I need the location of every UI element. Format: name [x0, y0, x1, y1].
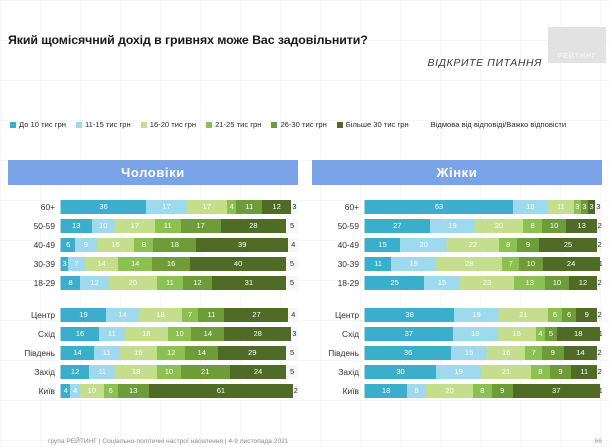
legend-swatch-icon [76, 122, 82, 128]
bar-segment: 11 [548, 200, 574, 214]
bar-segment: 2 [597, 276, 602, 290]
bar-segment: 22 [447, 238, 499, 252]
bar-segment: 11 [99, 327, 125, 341]
bar-segment: 16 [97, 238, 135, 252]
bar-segment: 11 [365, 257, 391, 271]
stacked-bar: 37141416405 [60, 257, 298, 271]
bar-segment: 5 [286, 365, 298, 379]
bar-segment: 6 [562, 308, 576, 322]
bar-segment: 11 [236, 200, 262, 214]
bar-segment: 63 [365, 200, 513, 214]
bar-segment: 14 [106, 308, 139, 322]
bar-segment: 37 [365, 327, 453, 341]
bar-segment: 1 [600, 257, 602, 271]
stacked-bar: 812201112315 [60, 276, 298, 290]
bar-segment: 1 [600, 327, 602, 341]
bar-segment: 3 [574, 200, 581, 214]
bar-segment: 6 [548, 308, 562, 322]
row-category-label: Центр [312, 310, 364, 320]
bar-segment: 20 [109, 276, 157, 290]
bar-segment: 8 [499, 238, 518, 252]
bar-segment: 10 [168, 327, 192, 341]
bar-segment: 17 [115, 219, 155, 233]
panel-men-region-chart: Центр191418711274Схід1611181014283Півден… [8, 307, 298, 398]
legend-swatch-icon [206, 122, 212, 128]
bar-segment: 14 [191, 327, 224, 341]
bar-segment: 14 [118, 257, 152, 271]
bar-segment: 19 [453, 327, 498, 341]
bar-segment: 9 [576, 308, 597, 322]
panel-women-age-chart: 60+631511333350-5927192081013240-4915202… [312, 199, 602, 290]
bar-segment: 11 [198, 308, 224, 322]
row-category-label: Південь [8, 348, 60, 358]
legend-label: Відмова від відповіді/Важко відповісти [431, 120, 566, 129]
page-number: 66 [595, 438, 602, 445]
stacked-bar: 111928710241 [364, 257, 602, 271]
bar-segment: 18 [557, 327, 600, 341]
bar-segment: 9 [550, 365, 571, 379]
chart-row: 60+6315113333 [312, 199, 602, 214]
bar-segment: 15 [365, 238, 400, 252]
bar-segment: 14 [85, 257, 119, 271]
bar-segment: 40 [190, 257, 286, 271]
bar-segment: 5 [286, 257, 298, 271]
legend-item: 16-20 тис грн [141, 120, 196, 129]
legend-label: Більше 30 тис грн [346, 120, 409, 129]
chart-row: Південь36151679142 [312, 345, 602, 360]
row-category-label: Південь [312, 348, 364, 358]
bar-segment: 17 [181, 219, 221, 233]
chart-row: Центр3819216692 [312, 307, 602, 322]
bar-segment: 29 [218, 346, 286, 360]
bar-segment: 6 [61, 238, 75, 252]
legend-swatch-icon [10, 122, 16, 128]
legend-item: 21-25 тис грн [206, 120, 261, 129]
question-type-label: ВІДКРИТЕ ПИТАННЯ [428, 57, 542, 69]
bar-segment: 6 [104, 384, 118, 398]
bar-segment: 24 [230, 365, 286, 379]
panel-women: Жінки 60+631511333350-5927192081013240-4… [312, 160, 602, 402]
bar-segment: 3 [291, 327, 298, 341]
bar-segment: 12 [183, 276, 212, 290]
bar-segment: 7 [502, 257, 519, 271]
bar-segment: 2 [597, 346, 602, 360]
legend-item: 11-15 тис грн [76, 120, 131, 129]
bar-segment: 5 [545, 327, 557, 341]
legend-swatch-icon [141, 122, 147, 128]
bar-segment: 8 [473, 384, 492, 398]
row-category-label: Схід [312, 329, 364, 339]
row-category-label: Київ [312, 386, 364, 396]
bar-segment: 11 [94, 346, 120, 360]
chart-row: 40-4915202289252 [312, 237, 602, 252]
row-category-label: Київ [8, 386, 60, 396]
stacked-bar: 6916818394 [60, 238, 298, 252]
bar-segment: 23 [460, 276, 515, 290]
bar-segment: 28 [224, 327, 290, 341]
panel-women-region-chart: Центр3819216692Схід37191645181Південь361… [312, 307, 602, 398]
row-category-label: 18-29 [8, 278, 60, 288]
chart-row: Захід1211181021245 [8, 364, 298, 379]
bar-segment: 14 [564, 346, 598, 360]
panel-men: Чоловіки 60+36171741112350-5913101711172… [8, 160, 298, 402]
stacked-bar: 1310171117285 [60, 219, 298, 233]
chart-row: Схід37191645181 [312, 326, 602, 341]
legend-label: До 10 тис грн [19, 120, 66, 129]
chart-row: Південь1411161214295 [8, 345, 298, 360]
bar-segment: 7 [182, 308, 199, 322]
bar-segment: 5 [286, 219, 298, 233]
row-category-label: 30-39 [8, 259, 60, 269]
bar-segment: 12 [262, 200, 290, 214]
bar-segment: 4 [288, 238, 297, 252]
row-category-label: 40-49 [8, 240, 60, 250]
bar-segment: 8 [407, 384, 426, 398]
bar-segment: 3 [581, 200, 588, 214]
bar-segment: 13 [61, 219, 92, 233]
bar-segment: 11 [155, 219, 181, 233]
chart-row: 60+361717411123 [8, 199, 298, 214]
bar-segment: 18 [153, 238, 196, 252]
bar-segment: 2 [597, 365, 602, 379]
bar-segment: 25 [365, 276, 424, 290]
bar-segment: 16 [498, 327, 536, 341]
row-category-label: Захід [312, 367, 364, 377]
stacked-bar: 37191645181 [364, 327, 602, 341]
bar-segment: 9 [517, 238, 538, 252]
bar-segment: 4 [61, 384, 70, 398]
bar-segment: 8 [523, 219, 542, 233]
row-category-label: Схід [8, 329, 60, 339]
legend-swatch-icon [337, 122, 343, 128]
bar-segment: 15 [451, 346, 487, 360]
legend-label: 21-25 тис грн [215, 120, 261, 129]
bar-segment: 16 [120, 346, 158, 360]
bar-segment: 36 [61, 200, 146, 214]
stacked-bar: 6315113333 [364, 200, 602, 214]
bar-segment: 27 [365, 219, 430, 233]
page-title: Який щомісячний дохід в гривнях може Вас… [8, 33, 368, 47]
bar-segment: 4 [227, 200, 236, 214]
bar-segment: 12 [61, 365, 89, 379]
bar-segment: 7 [525, 346, 542, 360]
bar-segment: 15 [424, 276, 460, 290]
bar-segment: 21 [499, 308, 548, 322]
chart-legend: До 10 тис грн11-15 тис грн16-20 тис грн2… [10, 120, 605, 129]
bar-segment: 10 [519, 257, 543, 271]
bar-segment: 30 [365, 365, 436, 379]
bar-segment: 37 [513, 384, 600, 398]
bar-segment: 25 [539, 238, 598, 252]
legend-label: 11-15 тис грн [85, 120, 131, 129]
bar-segment: 2 [597, 219, 602, 233]
stacked-bar: 1882089371 [364, 384, 602, 398]
bar-segment: 18 [115, 365, 157, 379]
bar-segment: 4 [288, 308, 297, 322]
bar-segment: 3 [595, 200, 602, 214]
row-category-label: Захід [8, 367, 60, 377]
bar-segment: 12 [80, 276, 109, 290]
row-category-label: Центр [8, 310, 60, 320]
bar-segment: 15 [513, 200, 548, 214]
stacked-bar: 1411161214295 [60, 346, 298, 360]
stacked-bar: 271920810132 [364, 219, 602, 233]
bar-segment: 21 [181, 365, 230, 379]
row-category-label: 50-59 [312, 221, 364, 231]
bar-segment: 11 [571, 365, 597, 379]
bar-segment: 3 [291, 200, 298, 214]
row-category-label: 60+ [8, 202, 60, 212]
chart-row: 30-39111928710241 [312, 256, 602, 271]
legend-label: 26-30 тис грн [280, 120, 326, 129]
bar-segment: 19 [436, 365, 481, 379]
bar-segment: 9 [492, 384, 513, 398]
bar-segment: 14 [61, 346, 94, 360]
bar-segment: 28 [221, 219, 287, 233]
bar-segment: 11 [89, 365, 115, 379]
bar-segment: 27 [224, 308, 288, 322]
rating-logo: РЕЙТИНГ [548, 27, 606, 63]
stacked-bar: 2515231310122 [364, 276, 602, 290]
bar-segment: 11 [157, 276, 183, 290]
bar-segment: 19 [61, 308, 106, 322]
bar-segment: 18 [365, 384, 407, 398]
chart-row: Київ1882089371 [312, 383, 602, 398]
bar-segment: 10 [80, 384, 104, 398]
chart-row: 18-292515231310122 [312, 275, 602, 290]
stacked-bar: 15202289252 [364, 238, 602, 252]
bar-segment: 3 [588, 200, 595, 214]
row-category-label: 40-49 [312, 240, 364, 250]
row-category-label: 50-59 [8, 221, 60, 231]
panel-men-title: Чоловіки [8, 160, 298, 185]
bar-segment: 1 [600, 384, 602, 398]
legend-item: Більше 30 тис грн [337, 120, 409, 129]
bar-segment: 8 [61, 276, 80, 290]
chart-row: Центр191418711274 [8, 307, 298, 322]
bar-segment: 7 [68, 257, 85, 271]
panel-men-age-chart: 60+36171741112350-59131017111728540-4969… [8, 199, 298, 290]
bar-segment: 31 [212, 276, 286, 290]
bar-segment: 19 [430, 219, 475, 233]
bar-segment: 39 [196, 238, 288, 252]
bar-segment: 8 [134, 238, 153, 252]
bar-segment: 13 [566, 219, 597, 233]
bar-segment: 13 [514, 276, 545, 290]
chart-row: 30-3937141416405 [8, 256, 298, 271]
stacked-bar: 3819216692 [364, 308, 602, 322]
bar-segment: 19 [454, 308, 499, 322]
stacked-bar: 191418711274 [60, 308, 298, 322]
source-footer: група РЕЙТИНГ | Соціально-політичні наст… [48, 438, 288, 445]
bar-segment: 14 [185, 346, 218, 360]
bar-segment: 12 [569, 276, 597, 290]
bar-segment: 13 [118, 384, 149, 398]
bar-segment: 17 [187, 200, 227, 214]
legend-item: 26-30 тис грн [271, 120, 326, 129]
bar-segment: 5 [286, 276, 298, 290]
legend-label: 16-20 тис грн [150, 120, 196, 129]
bar-segment: 9 [75, 238, 96, 252]
chart-row: 50-591310171117285 [8, 218, 298, 233]
chart-row: Київ4410613612 [8, 383, 298, 398]
chart-row: Схід1611181014283 [8, 326, 298, 341]
rating-logo-text: РЕЙТИНГ [557, 51, 596, 60]
bar-segment: 20 [400, 238, 447, 252]
stacked-bar: 30192189112 [364, 365, 602, 379]
chart-row: Захід30192189112 [312, 364, 602, 379]
legend-swatch-icon [271, 122, 277, 128]
bar-segment: 2 [597, 308, 602, 322]
bar-segment: 9 [542, 346, 564, 360]
slide-page: Який щомісячний дохід в гривнях може Вас… [0, 0, 610, 447]
chart-row: 18-29812201112315 [8, 275, 298, 290]
bar-segment: 21 [481, 365, 531, 379]
bar-segment: 18 [139, 308, 182, 322]
bar-segment: 24 [543, 257, 600, 271]
row-category-label: 60+ [312, 202, 364, 212]
bar-segment: 38 [365, 308, 454, 322]
bar-segment: 16 [61, 327, 99, 341]
bar-segment: 2 [293, 384, 298, 398]
stacked-bar: 1611181014283 [60, 327, 298, 341]
bar-segment: 10 [157, 365, 180, 379]
bar-segment: 8 [531, 365, 550, 379]
bar-segment: 16 [487, 346, 525, 360]
bar-segment: 16 [152, 257, 190, 271]
bar-segment: 61 [149, 384, 294, 398]
legend-item: До 10 тис грн [10, 120, 66, 129]
panel-women-title: Жінки [312, 160, 602, 185]
bar-segment: 20 [426, 384, 473, 398]
bar-segment: 18 [125, 327, 168, 341]
chart-row: 40-496916818394 [8, 237, 298, 252]
bar-segment: 10 [542, 219, 566, 233]
bar-segment: 20 [475, 219, 523, 233]
row-category-label: 30-39 [312, 259, 364, 269]
legend-item: Відмова від відповіді/Важко відповісти [431, 120, 566, 129]
bar-segment: 10 [92, 219, 115, 233]
bar-segment: 4 [536, 327, 545, 341]
bar-segment: 36 [365, 346, 451, 360]
bar-segment: 17 [146, 200, 186, 214]
chart-row: 50-59271920810132 [312, 218, 602, 233]
bar-segment: 3 [61, 257, 68, 271]
bar-segment: 28 [436, 257, 502, 271]
bar-segment: 4 [70, 384, 79, 398]
stacked-bar: 361717411123 [60, 200, 298, 214]
bar-segment: 10 [545, 276, 569, 290]
bar-segment: 2 [597, 238, 602, 252]
bar-segment: 19 [391, 257, 436, 271]
bar-segment: 5 [286, 346, 298, 360]
stacked-bar: 1211181021245 [60, 365, 298, 379]
row-category-label: 18-29 [312, 278, 364, 288]
stacked-bar: 36151679142 [364, 346, 602, 360]
bar-segment: 12 [157, 346, 185, 360]
stacked-bar: 4410613612 [60, 384, 298, 398]
